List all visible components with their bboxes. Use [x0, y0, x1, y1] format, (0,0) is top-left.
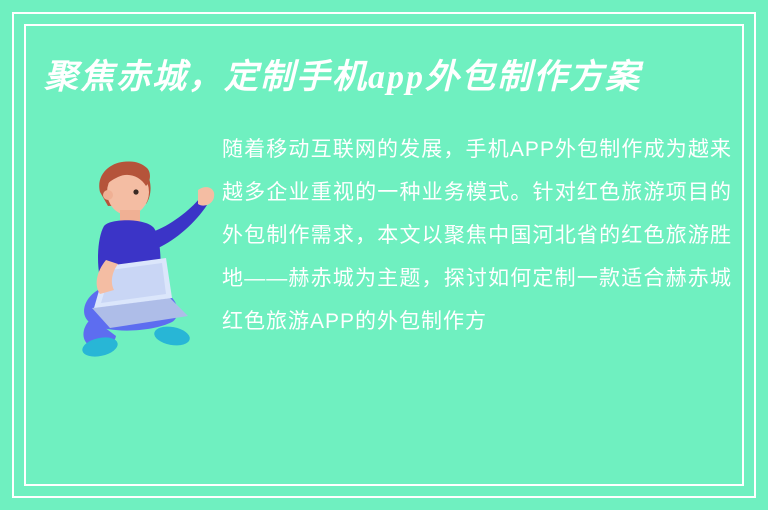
person-with-laptop-illustration — [48, 140, 218, 370]
poster-canvas: 聚焦赤城，定制手机app外包制作方案 — [0, 0, 768, 510]
page-title: 聚焦赤城，定制手机app外包制作方案 — [44, 58, 734, 99]
body-paragraph: 随着移动互联网的发展，手机APP外包制作成为越来越多企业重视的一种业务模式。针对… — [222, 128, 732, 343]
